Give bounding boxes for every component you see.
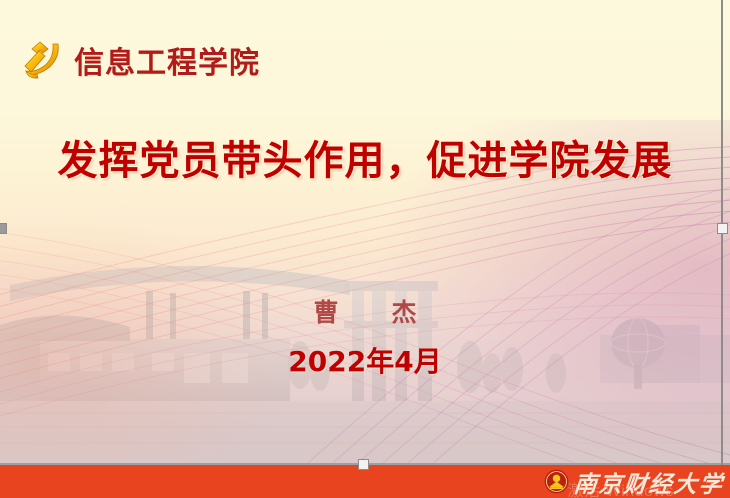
department-name: 信息工程学院 — [74, 38, 260, 82]
slide-header: 信息工程学院 — [18, 36, 260, 84]
selection-handle-bottom-middle[interactable] — [358, 459, 369, 470]
party-hammer-sickle-icon — [18, 36, 68, 84]
presentation-date: 2022年4月 — [0, 340, 730, 380]
presenter-name: 曹 杰 — [0, 293, 730, 329]
university-seal-icon — [544, 469, 569, 494]
selection-handle-right-middle[interactable] — [717, 223, 728, 234]
selection-handle-left-middle[interactable] — [0, 223, 7, 234]
university-name: 南京财经大学 — [572, 465, 726, 498]
slide-title: 发挥党员带头作用，促进学院发展 — [0, 128, 730, 186]
presentation-slide[interactable]: 信息工程学院 发挥党员带头作用，促进学院发展 曹 杰 2022年4月 南京财经大… — [0, 0, 730, 498]
university-logo: 南京财经大学 — [544, 465, 724, 498]
